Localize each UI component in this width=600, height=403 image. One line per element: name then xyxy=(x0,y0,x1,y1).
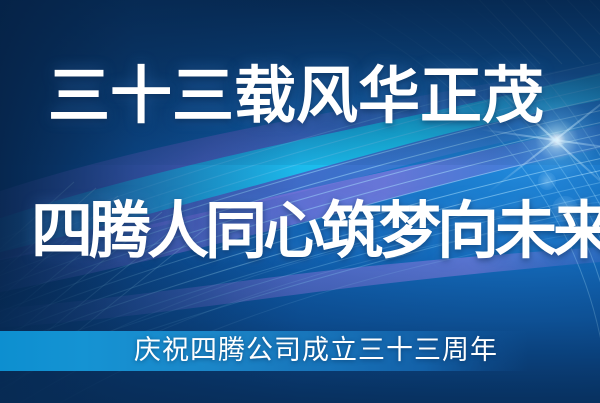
bottom-shade-overlay xyxy=(0,253,600,403)
anniversary-banner: 三十三载风华正茂 四腾人同心筑梦向未来 庆祝四腾公司成立三十三周年 xyxy=(0,0,600,403)
subtitle-text: 庆祝四腾公司成立三十三周年 xyxy=(134,333,498,369)
headline-line-1: 三十三载风华正茂 xyxy=(48,62,544,132)
headline-line-2: 四腾人同心筑梦向未来 xyxy=(31,197,600,267)
